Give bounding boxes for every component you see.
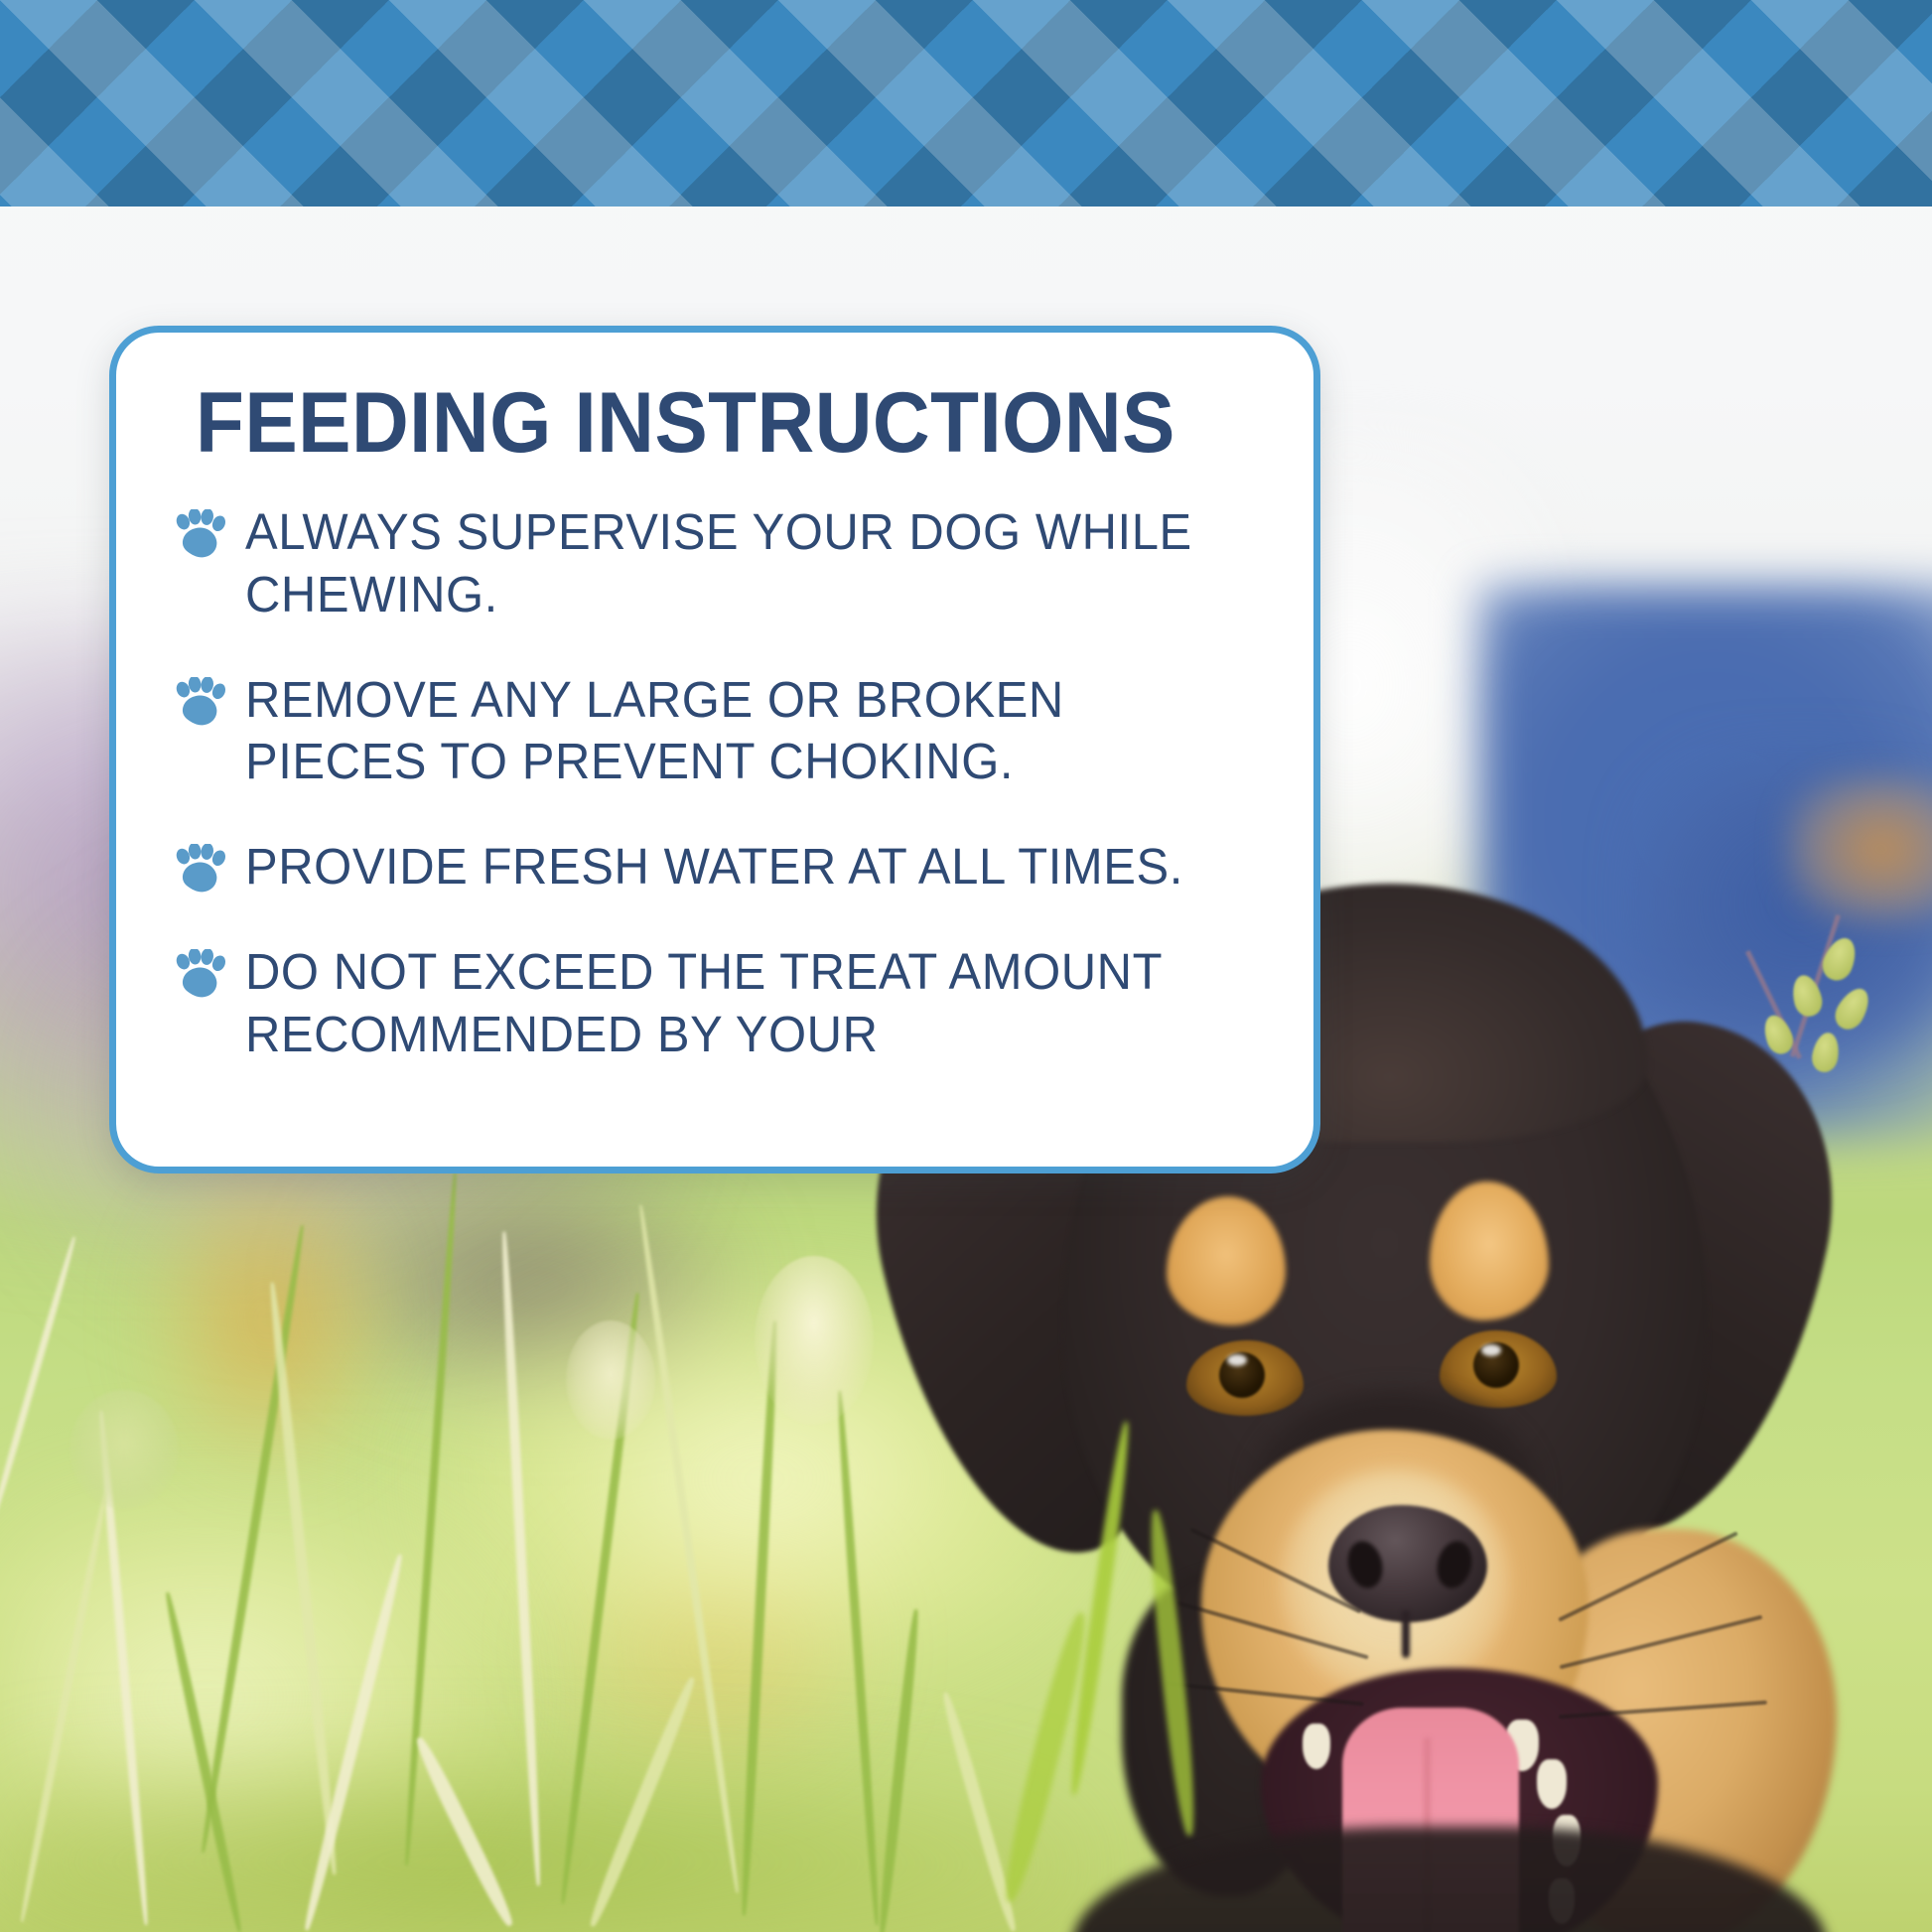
dog-philtrum (1402, 1610, 1410, 1658)
instructions-list: ALWAYS SUPERVISE YOUR DOG WHILE CHEWING.… (174, 501, 1256, 1065)
list-item-label: PROVIDE FRESH WATER AT ALL TIMES. (245, 836, 1183, 897)
list-item: REMOVE ANY LARGE OR BROKEN PIECES TO PRE… (174, 669, 1256, 792)
page-title: FEEDING INSTRUCTIONS (196, 378, 1181, 468)
product-infographic: FEEDING INSTRUCTIONS ALWAYS SUPERVISE YO… (0, 0, 1932, 1932)
gingham-header-band (0, 0, 1932, 207)
list-item-label: DO NOT EXCEED THE TREAT AMOUNT RECOMMEND… (245, 941, 1215, 1064)
paw-icon (174, 677, 227, 729)
grass-seedhead (566, 1320, 655, 1440)
list-item: ALWAYS SUPERVISE YOUR DOG WHILE CHEWING. (174, 501, 1256, 624)
grass-seedhead (69, 1390, 179, 1509)
dog-left-eye-glint (1227, 1354, 1247, 1366)
dog-tooth (1303, 1724, 1330, 1769)
dog-right-eye-glint (1481, 1344, 1501, 1356)
list-item: DO NOT EXCEED THE TREAT AMOUNT RECOMMEND… (174, 941, 1256, 1064)
dog-tooth (1537, 1759, 1567, 1809)
feeding-instructions-card: FEEDING INSTRUCTIONS ALWAYS SUPERVISE YO… (109, 326, 1320, 1173)
photo-deep-green (0, 1747, 1092, 1932)
list-item-label: ALWAYS SUPERVISE YOUR DOG WHILE CHEWING. (245, 501, 1215, 624)
paw-icon (174, 844, 227, 896)
paw-icon (174, 949, 227, 1001)
grass-seedhead (755, 1256, 874, 1425)
list-item: PROVIDE FRESH WATER AT ALL TIMES. (174, 836, 1256, 897)
list-item-label: REMOVE ANY LARGE OR BROKEN PIECES TO PRE… (245, 669, 1215, 792)
paw-icon (174, 509, 227, 561)
